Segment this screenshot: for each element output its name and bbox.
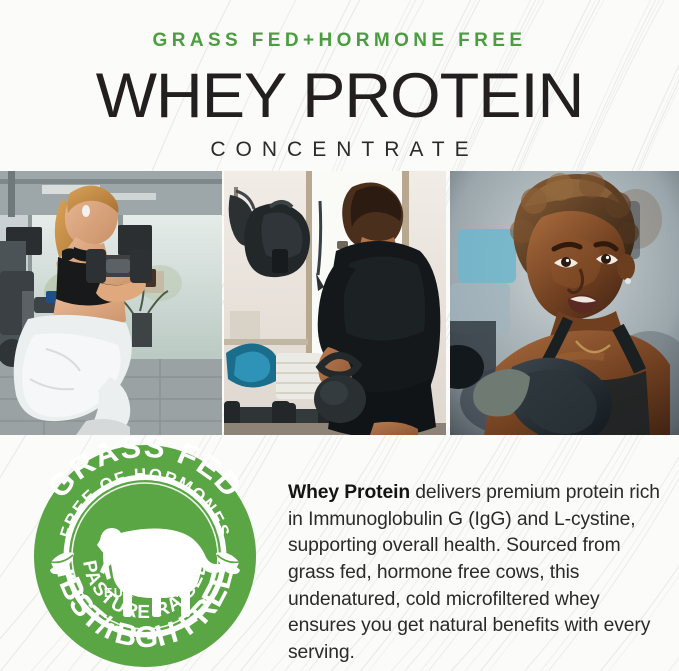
product-description: Whey Protein delivers premium protein ri…: [288, 480, 668, 666]
header-block: GRASS FED+HORMONE FREE WHEY PROTEIN CONC…: [0, 0, 679, 160]
photo-woman-boxing-with-gloves: [450, 171, 679, 435]
bottom-section: GRASS FED rBST/rBGH FREE FREE OF HORMONE…: [0, 435, 679, 671]
description-lead: Whey Protein: [288, 482, 410, 503]
grass-fed-seal-svg: GRASS FED rBST/rBGH FREE FREE OF HORMONE…: [20, 432, 270, 668]
product-infographic: GRASS FED+HORMONE FREE WHEY PROTEIN CONC…: [0, 0, 679, 671]
page-subtitle: CONCENTRATE: [0, 128, 679, 160]
photo-woman-squatting-with-dumbbell: [0, 171, 222, 435]
photo-man-with-kettlebell: [224, 171, 446, 435]
eyebrow-tagline: GRASS FED+HORMONE FREE: [0, 0, 679, 50]
grass-fed-seal: GRASS FED rBST/rBGH FREE FREE OF HORMONE…: [20, 432, 270, 668]
description-text: delivers premium protein rich in Immunog…: [288, 482, 660, 663]
photo-strip: [0, 171, 679, 435]
page-title: WHEY PROTEIN: [0, 50, 679, 128]
